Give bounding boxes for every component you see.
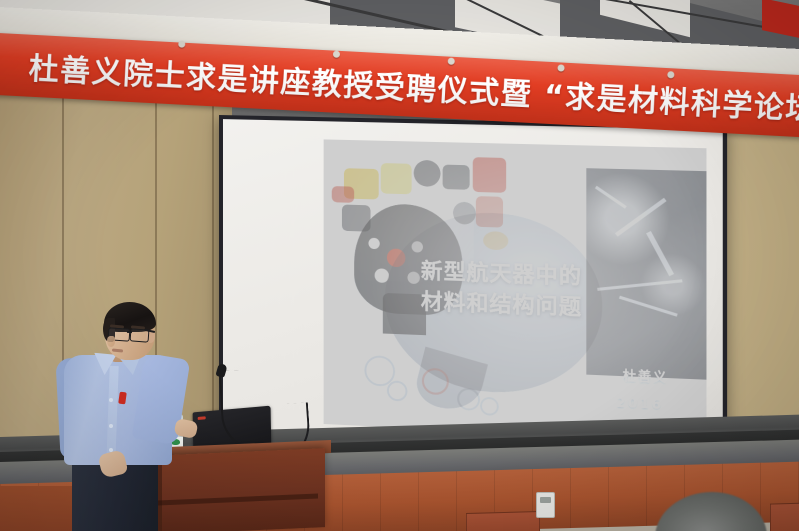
shirt-button [109, 424, 113, 428]
speaker-nose [107, 336, 115, 347]
stage-access-panel [770, 502, 799, 531]
slide-author: 杜善义 [623, 365, 668, 387]
wall-control-panel[interactable] [536, 492, 555, 518]
bubble-card-icon [342, 205, 371, 232]
laptop-logo-icon [198, 416, 206, 420]
decor-ring [387, 380, 408, 401]
slide-year: 2016 [616, 396, 663, 414]
glasses-bridge [127, 331, 132, 333]
decor-ring [480, 397, 499, 416]
podium [150, 448, 325, 531]
decor-ring [457, 387, 480, 411]
shirt-button [109, 398, 113, 402]
brain-dot-icon [368, 238, 379, 250]
decor-ring-red [422, 368, 449, 396]
lecture-hall-photo: 新型航天器中的 材料和结构问题 杜善义 2016 杜善义院士求是讲座教授受聘仪式… [0, 0, 799, 531]
bubble-card-icon [332, 186, 354, 203]
slide-title: 新型航天器中的 材料和结构问题 [421, 256, 663, 327]
stage-access-panel [466, 511, 540, 531]
